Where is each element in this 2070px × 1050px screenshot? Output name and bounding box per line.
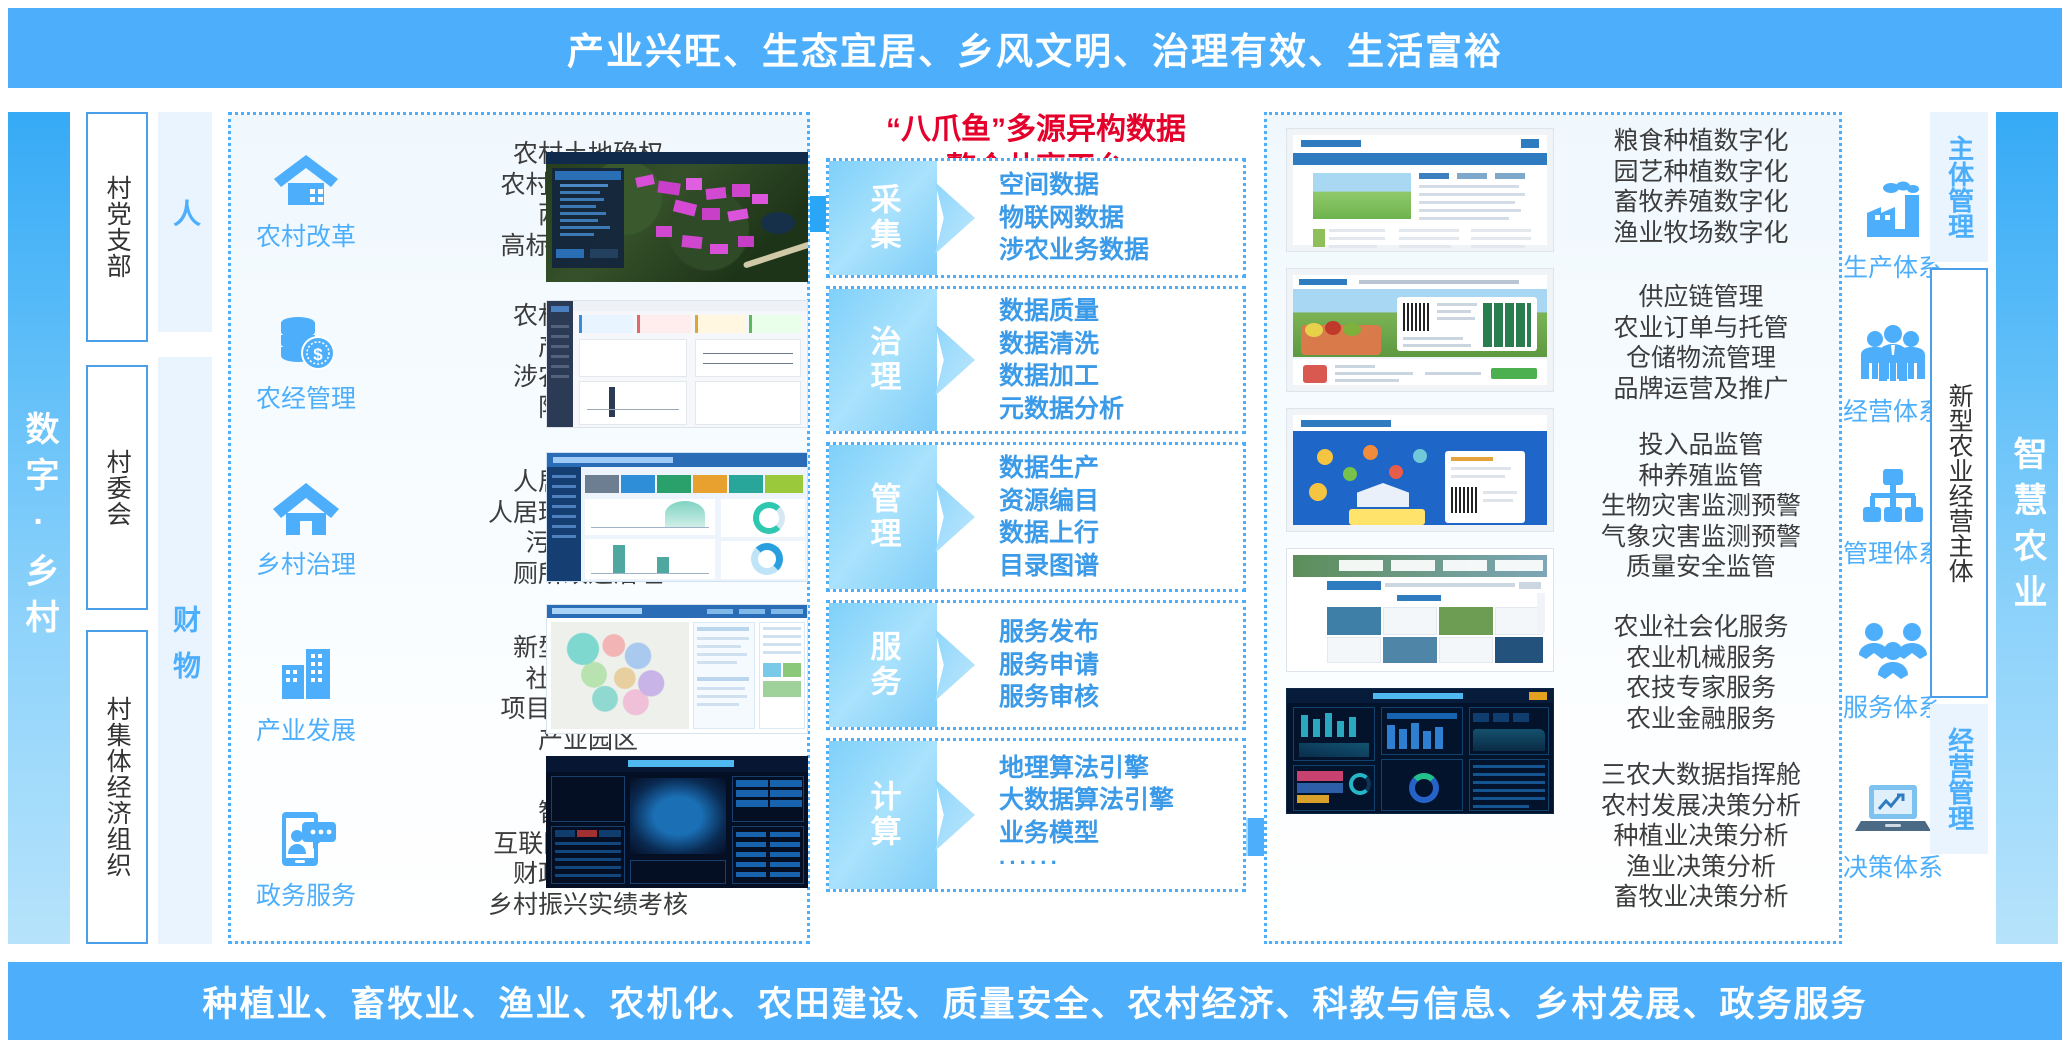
platform-stage-item: 资源编目 [999, 485, 1243, 518]
home-icon [270, 476, 342, 540]
agri-system-item: 投入品监管 [1566, 430, 1836, 461]
agri-bigdata-bigscreen-screenshot[interactable] [1286, 688, 1554, 814]
platform-stage-key-label: 管理 [868, 482, 899, 552]
party-building-bigscreen-screenshot[interactable] [546, 756, 808, 888]
people-service-icon [1855, 618, 1931, 684]
bottom-banner-text: 种植业、畜牧业、渔业、农机化、农田建设、质量安全、农村经济、科教与信息、乡村发展… [202, 976, 1867, 1027]
village-module-icon-block: 农村改革 [231, 148, 381, 253]
platform-stage-items: 空间数据 物联网数据 涉农业务数据 [937, 161, 1243, 275]
village-module-label: 产业发展 [256, 711, 356, 747]
platform-stage-compute[interactable]: 计算 地理算法引擎 大数据算法引擎 业务模型 ······ [826, 738, 1246, 892]
bottom-banner: 种植业、畜牧业、渔业、农机化、农田建设、质量安全、农村经济、科教与信息、乡村发展… [8, 962, 2062, 1040]
platform-stage-key: 管理 [829, 445, 937, 589]
agri-system-label: 经营体系 [1843, 392, 1943, 428]
platform-stage-item: 元数据分析 [999, 393, 1243, 426]
agri-system-items-operation: 供应链管理 农业订单与托管 仓储物流管理 品牌运营及推广 [1566, 282, 1836, 404]
agri-system-item: 园艺种植数字化 [1566, 157, 1836, 188]
agri-system-label: 服务体系 [1843, 688, 1943, 724]
agri-system-item: 生物灾害监测预警 [1566, 491, 1836, 522]
agri-system-item: 气象灾害监测预警 [1566, 522, 1836, 553]
platform-stage-items: 数据质量 数据清洗 数据加工 元数据分析 [937, 289, 1243, 431]
platform-title-line1: “八爪鱼”多源异构数据 [826, 110, 1246, 149]
buildings-icon [270, 642, 342, 706]
right-org-box-label: 主体管理 [1945, 135, 1972, 239]
agri-system-item: 种养殖监管 [1566, 461, 1836, 492]
platform-stage-key-label: 服务 [868, 630, 899, 700]
agri-system-label: 生产体系 [1843, 248, 1943, 284]
agri-system-item: 供应链管理 [1566, 282, 1836, 313]
platform-stage-item: 涉农业务数据 [999, 234, 1243, 267]
village-module-label: 农经管理 [256, 379, 356, 415]
agri-system-items-decision: 三农大数据指挥舱 农村发展决策分析 种植业决策分析 渔业决策分析 畜牧业决策分析 [1566, 760, 1836, 913]
asset-management-dashboard-screenshot[interactable] [546, 300, 808, 428]
factory-icon [1855, 178, 1931, 244]
platform-stage-item: ······ [999, 849, 1243, 878]
org-box-collective-economy[interactable]: 村集体经济组织 [86, 630, 148, 944]
agri-system-item: 仓储物流管理 [1566, 343, 1836, 374]
resource-box-finance-assets: 财物 [158, 357, 212, 944]
resource-column: 人 财物 [158, 112, 212, 944]
platform-stage-item: 地理算法引擎 [999, 752, 1243, 785]
team-group-icon [1855, 322, 1931, 388]
industry-distribution-map-screenshot[interactable] [546, 604, 808, 734]
agri-system-item: 渔业牧场数字化 [1566, 218, 1836, 249]
right-rail-label: 智慧农业 [2010, 436, 2044, 620]
svg-text:$: $ [313, 345, 323, 364]
left-rail-digital-village: 数字·乡村 [8, 112, 70, 944]
right-org-column: 主体管理 新型农业经营主体 经营管理 [1930, 112, 1988, 944]
house-roof-icon [270, 148, 342, 212]
platform-stage-items: 数据生产 资源编目 数据上行 目录图谱 [937, 445, 1243, 589]
org-box-village-party-branch[interactable]: 村党支部 [86, 112, 148, 342]
infographic-root: 产业兴旺、生态宜居、乡风文明、治理有效、生活富裕 数字·乡村 村党支部 村委会 … [0, 0, 2070, 1050]
platform-stage-key: 治理 [829, 289, 937, 431]
village-module-item: 乡村振兴实绩考核 [381, 890, 795, 921]
platform-stage-collect[interactable]: 采集 空间数据 物联网数据 涉农业务数据 [826, 158, 1246, 278]
agri-system-label: 决策体系 [1843, 848, 1943, 884]
right-rail-smart-agriculture: 智慧农业 [1996, 112, 2058, 944]
platform-stage-management[interactable]: 管理 数据生产 资源编目 数据上行 目录图谱 [826, 442, 1246, 592]
food-safety-campaign-screenshot[interactable] [1286, 408, 1554, 532]
platform-stage-item: 数据上行 [999, 517, 1243, 550]
agri-system-item: 农业订单与托管 [1566, 313, 1836, 344]
right-org-box-label: 经营管理 [1945, 727, 1972, 831]
agri-system-item: 农村发展决策分析 [1566, 791, 1836, 822]
platform-stage-item: 业务模型 [999, 817, 1243, 850]
platform-stage-key-label: 计算 [868, 780, 899, 850]
agri-system-item: 三农大数据指挥舱 [1566, 760, 1836, 791]
platform-stage-key: 采集 [829, 161, 937, 275]
org-box-label: 村党支部 [104, 175, 130, 279]
governance-bi-dashboard-screenshot[interactable] [546, 452, 808, 582]
village-module-icon-block: 政务服务 [231, 807, 381, 912]
village-module-icon-block: 乡村治理 [231, 476, 381, 581]
platform-stage-governance[interactable]: 治理 数据质量 数据清洗 数据加工 元数据分析 [826, 286, 1246, 434]
agri-system-items-management: 投入品监管 种养殖监管 生物灾害监测预警 气象灾害监测预警 质量安全监管 [1566, 430, 1836, 583]
platform-stage-item: 物联网数据 [999, 202, 1243, 235]
agri-system-items-service: 农业社会化服务 农业机械服务 农技专家服务 农业金融服务 [1566, 612, 1836, 734]
platform-stage-key-label: 采集 [868, 183, 899, 253]
mobile-service-icon [270, 807, 342, 871]
platform-stage-item: 数据质量 [999, 295, 1243, 328]
right-org-box-label: 新型农业经营主体 [1946, 383, 1972, 583]
agri-system-item: 粮食种植数字化 [1566, 126, 1836, 157]
org-box-label: 村集体经济组织 [104, 696, 130, 878]
village-module-label: 政务服务 [256, 876, 356, 912]
top-banner: 产业兴旺、生态宜居、乡风文明、治理有效、生活富裕 [8, 8, 2062, 88]
right-org-box-operation-management[interactable]: 经营管理 [1930, 704, 1988, 854]
satellite-land-map-screenshot[interactable] [546, 152, 808, 282]
agri-system-item: 渔业决策分析 [1566, 852, 1836, 883]
agri-system-item: 畜牧业决策分析 [1566, 882, 1836, 913]
village-org-column: 村党支部 村委会 村集体经济组织 [86, 112, 148, 944]
platform-stage-item: 数据清洗 [999, 328, 1243, 361]
right-org-box-new-agri-entity[interactable]: 新型农业经营主体 [1930, 268, 1988, 698]
org-box-label: 村委会 [104, 449, 130, 527]
platform-stage-item: 空间数据 [999, 169, 1243, 202]
agri-portal-website-screenshot[interactable] [1286, 128, 1554, 252]
agri-system-item: 农业金融服务 [1566, 704, 1836, 735]
village-module-icon-block: 产业发展 [231, 642, 381, 747]
platform-stage-key: 服务 [829, 603, 937, 727]
org-box-village-committee[interactable]: 村委会 [86, 365, 148, 610]
platform-stage-service[interactable]: 服务 服务发布 服务申请 服务审核 [826, 600, 1246, 730]
platform-stage-item: 服务发布 [999, 616, 1243, 649]
digital-service-grid-screenshot[interactable] [1286, 548, 1554, 672]
platform-stage-item: 目录图谱 [999, 550, 1243, 583]
platform-stage-key-label: 治理 [868, 325, 899, 395]
agri-system-item: 农业社会化服务 [1566, 612, 1836, 643]
coins-dollar-icon: $ [270, 310, 342, 374]
platform-stage-item: 数据加工 [999, 360, 1243, 393]
laptop-chart-icon [1855, 778, 1931, 844]
org-chart-icon [1855, 464, 1931, 530]
agri-system-item: 农业机械服务 [1566, 643, 1836, 674]
agri-system-item: 种植业决策分析 [1566, 821, 1836, 852]
village-module-icon-block: $ 农经管理 [231, 310, 381, 415]
platform-stage-item: 服务申请 [999, 649, 1243, 682]
agri-system-items-production: 粮食种植数字化 园艺种植数字化 畜牧养殖数字化 渔业牧场数字化 [1566, 126, 1836, 248]
platform-stage-item: 服务审核 [999, 681, 1243, 714]
platform-stage-key: 计算 [829, 741, 937, 889]
left-rail-label: 数字·乡村 [22, 411, 56, 645]
village-module-label: 乡村治理 [256, 545, 356, 581]
agri-system-item: 品牌运营及推广 [1566, 374, 1836, 405]
platform-stage-item: 数据生产 [999, 452, 1243, 485]
resource-box-people: 人 [158, 112, 212, 332]
platform-stage-items: 地理算法引擎 大数据算法引擎 业务模型 ······ [937, 741, 1243, 889]
top-banner-text: 产业兴旺、生态宜居、乡风文明、治理有效、生活富裕 [567, 21, 1503, 75]
resource-box-label: 人 [171, 199, 199, 245]
agri-system-item: 畜牧养殖数字化 [1566, 187, 1836, 218]
agri-system-item: 质量安全监管 [1566, 552, 1836, 583]
right-org-box-entity-management[interactable]: 主体管理 [1930, 112, 1988, 262]
agri-system-item: 农技专家服务 [1566, 673, 1836, 704]
village-module-label: 农村改革 [256, 217, 356, 253]
traceability-platform-screenshot[interactable] [1286, 268, 1554, 392]
platform-stage-item: 大数据算法引擎 [999, 784, 1243, 817]
platform-stage-items: 服务发布 服务申请 服务审核 [937, 603, 1243, 727]
agri-system-label: 管理体系 [1843, 534, 1943, 570]
resource-box-label: 财物 [171, 605, 199, 697]
